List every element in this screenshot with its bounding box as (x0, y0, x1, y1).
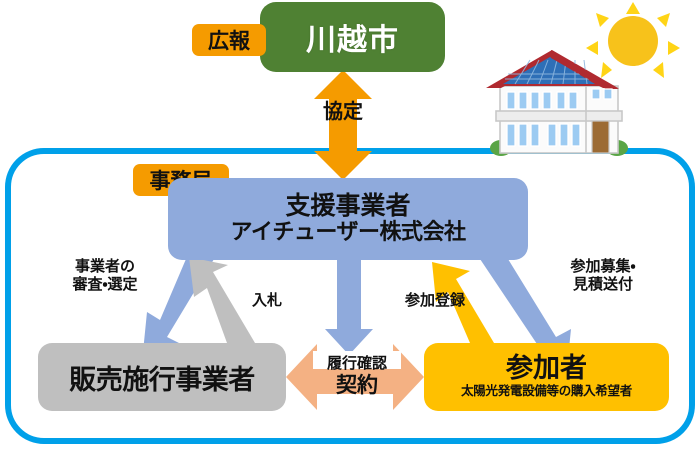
caption-sanka-boshu-line1: 参加募集・ (543, 258, 663, 276)
caption-sanka-boshu: 参加募集・ 見積送付 (543, 258, 663, 293)
tag-koho[interactable]: 広報 (192, 24, 266, 56)
node-participant-line2: 太陽光発電設備等の購入希望者 (461, 383, 632, 399)
node-seller[interactable]: 販売施行事業者 (38, 343, 286, 411)
node-participant[interactable]: 参加者 太陽光発電設備等の購入希望者 (424, 343, 669, 411)
caption-sanka-toroku: 参加登録 (390, 292, 480, 310)
solar-house-illustration (486, 2, 680, 156)
caption-shinsa-sentei-line2: 審査・選定 (46, 276, 164, 294)
arrow-label-keiyaku: 契約 (308, 369, 406, 399)
caption-sanka-boshu-line2: 見積送付 (543, 276, 663, 294)
node-city[interactable]: 川越市 (260, 2, 445, 72)
caption-shinsa-sentei: 事業者の 審査・選定 (46, 258, 164, 293)
node-participant-line1: 参加者 (506, 355, 587, 383)
diagram-canvas: 川越市 広報 事務局 協定 支援事業者 アイチューザー株式会社 事業者の 審査・… (0, 0, 700, 449)
tag-koho-label: 広報 (208, 25, 250, 55)
node-support-company-line1: 支援事業者 (285, 192, 410, 220)
caption-nyusatsu: 入札 (237, 292, 297, 310)
arrow-label-kyotei: 協定 (322, 98, 364, 125)
sun-icon (586, 2, 680, 78)
kyotei-double-arrow (314, 70, 372, 180)
arrow-support-center-down (325, 259, 373, 355)
node-support-company-line2: アイチューザー株式会社 (231, 220, 466, 246)
node-city-label: 川越市 (306, 15, 399, 59)
node-seller-label: 販売施行事業者 (69, 358, 255, 397)
house-door (592, 121, 609, 153)
node-support-company[interactable]: 支援事業者 アイチューザー株式会社 (168, 178, 528, 260)
caption-shinsa-sentei-line1: 事業者の (46, 258, 164, 276)
